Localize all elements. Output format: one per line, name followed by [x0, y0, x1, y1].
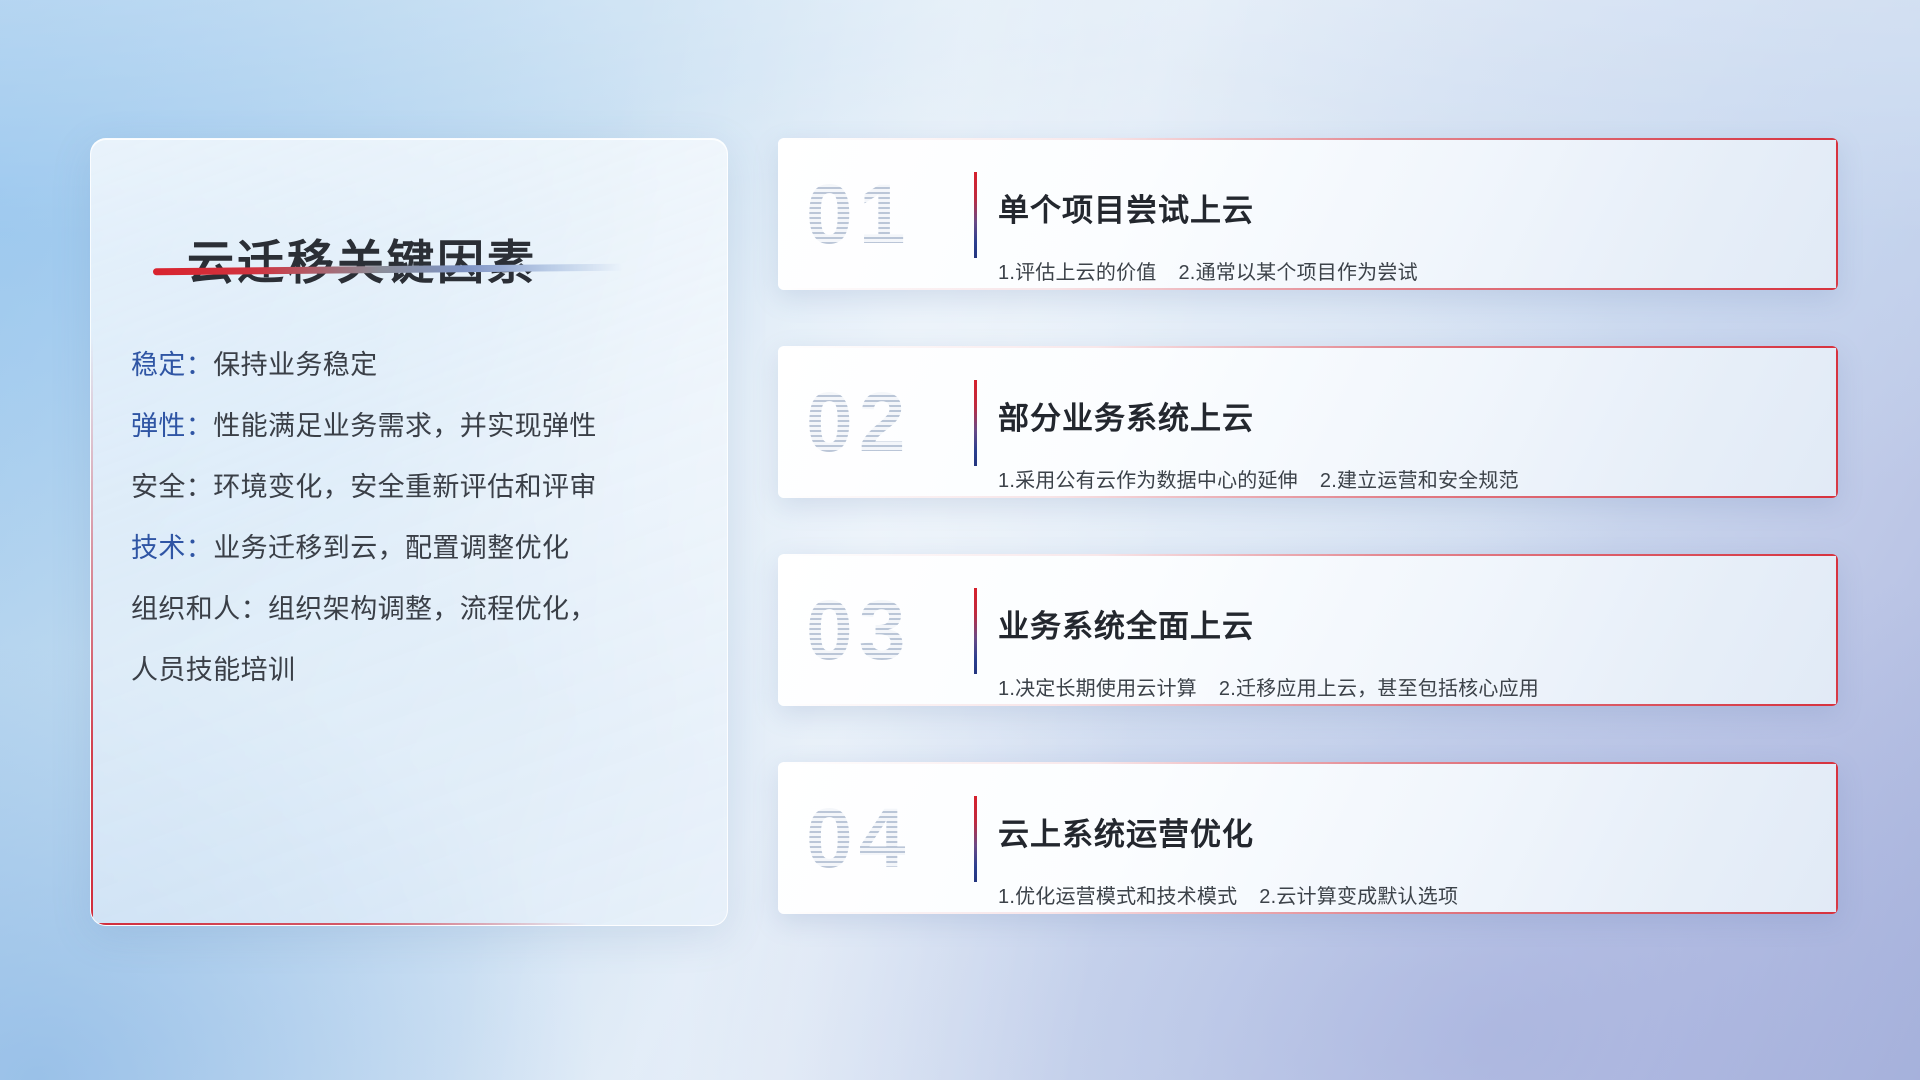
slide-stage: 云迁移关键因素 稳定：保持业务稳定 弹性：性能满足业务需求，并实现弹性 安全：环… [0, 0, 1920, 1080]
step-card-01[interactable]: 01 01 单个项目尝试上云 1.评估上云的价值2.通常以某个项目作为尝试 [778, 138, 1838, 290]
list-item: 安全：环境变化，安全重新评估和评审 [131, 457, 701, 518]
step-number: 02 [806, 380, 911, 464]
card-top-accent [778, 138, 1838, 140]
card-left-edge [778, 138, 780, 290]
step-card-03[interactable]: 03 03 业务系统全面上云 1.决定长期使用云计算2.迁移应用上云，甚至包括核… [778, 554, 1838, 706]
step-number: 01 [806, 172, 911, 256]
step-point: 2.迁移应用上云，甚至包括核心应用 [1219, 672, 1539, 701]
factor-text: 性能满足业务需求，并实现弹性 [213, 411, 597, 441]
step-card-02[interactable]: 02 02 部分业务系统上云 1.采用公有云作为数据中心的延伸2.建立运营和安全… [778, 346, 1838, 498]
key-factors-panel: 云迁移关键因素 稳定：保持业务稳定 弹性：性能满足业务需求，并实现弹性 安全：环… [90, 138, 728, 926]
step-description: 1.采用公有云作为数据中心的延伸2.建立运营和安全规范 [998, 464, 1814, 493]
list-item: 稳定：保持业务稳定 [131, 335, 701, 396]
card-left-edge [778, 346, 780, 498]
step-body: 云上系统运营优化 1.优化运营模式和技术模式2.云计算变成默认选项 [998, 790, 1814, 914]
step-accent-bar [974, 172, 977, 258]
step-accent-bar [974, 588, 977, 674]
factor-key: 组织和人： [131, 594, 268, 624]
step-point: 1.采用公有云作为数据中心的延伸 [998, 464, 1298, 493]
step-heading: 业务系统全面上云 [998, 608, 1814, 647]
step-heading: 云上系统运营优化 [998, 816, 1814, 855]
card-left-edge [778, 554, 780, 706]
factor-text: 组织架构调整，流程优化， [268, 594, 597, 624]
step-number: 03 [806, 588, 911, 672]
step-heading: 部分业务系统上云 [998, 400, 1814, 439]
list-item: 技术：业务迁移到云，配置调整优化 [131, 518, 701, 579]
step-point: 2.云计算变成默认选项 [1259, 880, 1458, 909]
factor-list: 稳定：保持业务稳定 弹性：性能满足业务需求，并实现弹性 安全：环境变化，安全重新… [131, 335, 701, 701]
step-accent-bar [974, 796, 977, 882]
step-description: 1.决定长期使用云计算2.迁移应用上云，甚至包括核心应用 [998, 672, 1814, 701]
card-left-edge [778, 762, 780, 914]
step-body: 业务系统全面上云 1.决定长期使用云计算2.迁移应用上云，甚至包括核心应用 [998, 582, 1814, 706]
list-item: 组织和人：组织架构调整，流程优化， [131, 579, 701, 640]
factor-text: 业务迁移到云，配置调整优化 [213, 533, 569, 563]
step-accent-bar [974, 380, 977, 466]
step-description: 1.评估上云的价值2.通常以某个项目作为尝试 [998, 256, 1814, 285]
step-point: 1.优化运营模式和技术模式 [998, 880, 1237, 909]
step-body: 单个项目尝试上云 1.评估上云的价值2.通常以某个项目作为尝试 [998, 166, 1814, 290]
card-right-accent [1836, 762, 1838, 914]
card-right-accent [1836, 138, 1838, 290]
step-point: 1.评估上云的价值 [998, 256, 1156, 285]
card-right-accent [1836, 346, 1838, 498]
factor-key: 稳定： [131, 350, 213, 380]
card-top-accent [778, 762, 1838, 764]
step-body: 部分业务系统上云 1.采用公有云作为数据中心的延伸2.建立运营和安全规范 [998, 374, 1814, 498]
step-point: 2.通常以某个项目作为尝试 [1178, 256, 1417, 285]
factor-text: 环境变化，安全重新评估和评审 [213, 472, 597, 502]
list-item: 人员技能培训 [131, 640, 701, 701]
card-top-accent [778, 346, 1838, 348]
step-point: 2.建立运营和安全规范 [1320, 464, 1519, 493]
factor-text: 保持业务稳定 [213, 350, 377, 380]
factor-key: 技术： [131, 533, 213, 563]
card-right-accent [1836, 554, 1838, 706]
step-heading: 单个项目尝试上云 [998, 192, 1814, 231]
panel-bottom-accent [91, 923, 587, 925]
step-point: 1.决定长期使用云计算 [998, 672, 1197, 701]
factor-key: 安全： [131, 472, 213, 502]
step-description: 1.优化运营模式和技术模式2.云计算变成默认选项 [998, 880, 1814, 909]
factor-key: 弹性： [131, 411, 213, 441]
card-top-accent [778, 554, 1838, 556]
factor-text: 人员技能培训 [131, 655, 295, 685]
list-item: 弹性：性能满足业务需求，并实现弹性 [131, 396, 701, 457]
migration-steps-list: 01 01 单个项目尝试上云 1.评估上云的价值2.通常以某个项目作为尝试 02… [778, 138, 1838, 914]
page-title: 云迁移关键因素 [187, 224, 537, 293]
step-card-04[interactable]: 04 04 云上系统运营优化 1.优化运营模式和技术模式2.云计算变成默认选项 [778, 762, 1838, 914]
step-number: 04 [806, 796, 911, 880]
